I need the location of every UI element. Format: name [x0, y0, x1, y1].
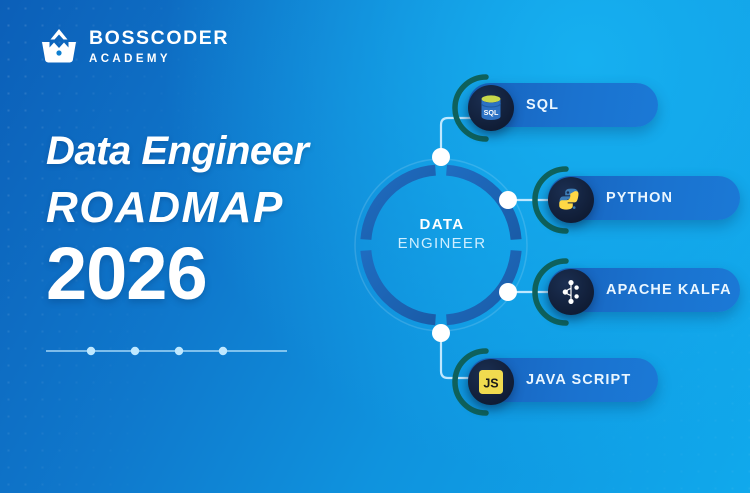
- hub-node-bottom[interactable]: [432, 324, 450, 342]
- node-label-kafka: APACHE KALFA: [606, 282, 732, 298]
- hub-node-top[interactable]: [432, 148, 450, 166]
- svg-text:JS: JS: [483, 377, 498, 391]
- hub-node-right-lower[interactable]: [499, 283, 517, 301]
- hub-label: DATA ENGINEER: [362, 216, 522, 254]
- javascript-icon[interactable]: JS: [468, 359, 514, 405]
- hub-node-right-upper[interactable]: [499, 191, 517, 209]
- roadmap-poster: BOSSCODER ACADEMY Data Engineer ROADMAP …: [0, 0, 750, 493]
- sql-database-icon[interactable]: SQL: [468, 85, 514, 131]
- apache-kafka-icon[interactable]: [548, 269, 594, 315]
- svg-text:SQL: SQL: [484, 108, 499, 117]
- hub-label-line-2: ENGINEER: [362, 235, 522, 254]
- node-label-python: PYTHON: [606, 190, 673, 206]
- node-label-javascript: JAVA SCRIPT: [526, 372, 631, 388]
- python-icon[interactable]: [548, 177, 594, 223]
- node-label-sql: SQL: [526, 97, 559, 113]
- hub-label-line-1: DATA: [362, 216, 522, 235]
